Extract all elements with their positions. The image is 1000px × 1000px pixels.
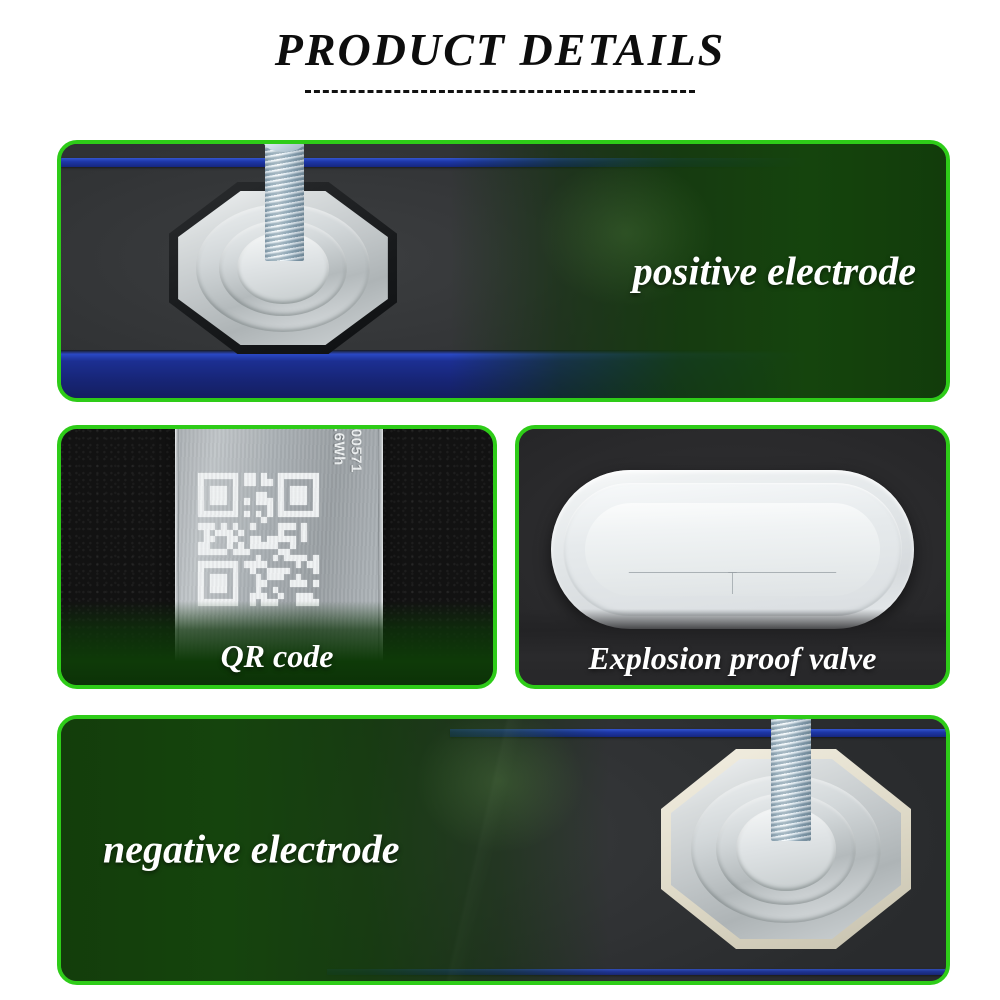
valve-score-line-v bbox=[629, 527, 836, 572]
qr-serial-number: F68000571 bbox=[347, 429, 364, 473]
caption-qr-code: QR code bbox=[221, 638, 334, 675]
title-divider-wrap bbox=[0, 90, 1000, 93]
terminal-bolt-positive bbox=[265, 144, 304, 261]
qr-code-matrix bbox=[198, 473, 318, 606]
panel-negative-inner: negative electrode bbox=[61, 719, 946, 981]
panel-qr-inner: F68000571 2009.6Wh QR code bbox=[61, 429, 493, 685]
qr-label-text: F68000571 2009.6Wh bbox=[330, 429, 365, 473]
bolt-threads-negative bbox=[771, 719, 811, 841]
caption-positive-electrode: positive electrode bbox=[633, 248, 916, 295]
terminal-bolt-negative bbox=[771, 719, 811, 841]
positive-terminal bbox=[169, 182, 397, 354]
page-header: PRODUCT DETAILS bbox=[0, 0, 1000, 93]
negative-terminal bbox=[661, 749, 911, 949]
valve-score-line-stem bbox=[732, 572, 733, 594]
panel-positive-electrode[interactable]: positive electrode bbox=[57, 140, 950, 402]
caption-explosion-proof-valve: Explosion proof valve bbox=[589, 640, 877, 677]
panel-negative-electrode[interactable]: negative electrode bbox=[57, 715, 950, 985]
valve-membrane-face bbox=[585, 503, 881, 596]
product-details-page: PRODUCT DETAILS bbox=[0, 0, 1000, 1000]
panel-explosion-proof-valve[interactable]: Explosion proof valve bbox=[515, 425, 950, 689]
panel-qr-code[interactable]: F68000571 2009.6Wh QR code bbox=[57, 425, 497, 689]
qr-energy-rating: 2009.6Wh bbox=[330, 429, 347, 466]
panel-valve-inner: Explosion proof valve bbox=[519, 429, 946, 685]
dashed-divider-line bbox=[305, 90, 695, 93]
valve-rim bbox=[563, 483, 903, 616]
page-title: PRODUCT DETAILS bbox=[0, 26, 1000, 74]
explosion-proof-valve bbox=[551, 470, 914, 629]
caption-negative-electrode: negative electrode bbox=[103, 826, 400, 873]
caption-band-valve: Explosion proof valve bbox=[519, 609, 946, 685]
green-glow-negative bbox=[415, 719, 585, 853]
caption-band-qr: QR code bbox=[61, 601, 493, 685]
panel-positive-inner: positive electrode bbox=[61, 144, 946, 398]
bolt-threads-positive bbox=[265, 144, 304, 261]
